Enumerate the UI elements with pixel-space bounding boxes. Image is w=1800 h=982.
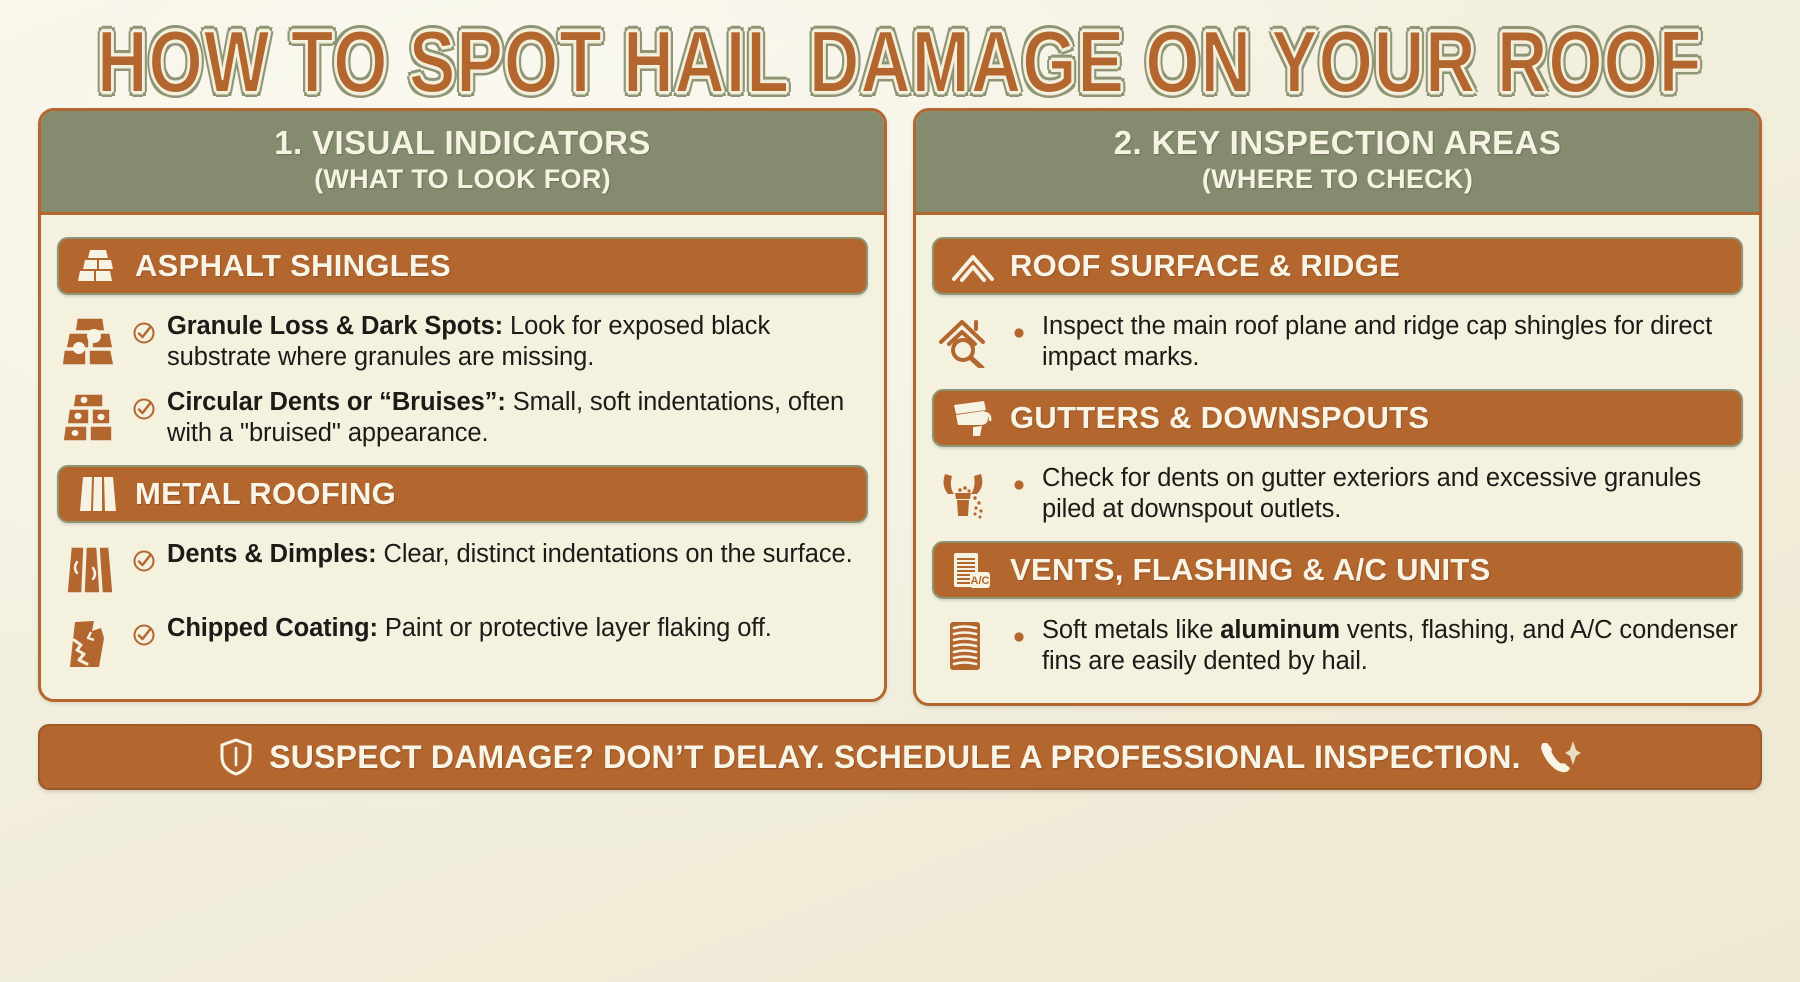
cta-banner[interactable]: SUSPECT DAMAGE? DON’T DELAY. SCHEDULE A … [38,724,1762,790]
section-label: ROOF SURFACE & RIDGE [1010,248,1400,284]
card-1-header: 1. VISUAL INDICATORS (WHAT TO LOOK FOR) [41,111,884,215]
bullet-text: Inspect the main roof plane and ridge ca… [1042,311,1741,373]
gutter-granules-icon [934,465,996,523]
check-circle-icon [131,319,157,347]
check-circle-icon [131,621,157,649]
bullet-rest: Clear, distinct indentations on the surf… [377,540,853,568]
dot-bullet-icon [1006,319,1032,347]
dot-bullet-icon [1006,471,1032,499]
card-2-body: ROOF SURFACE & RIDGE [916,215,1759,704]
shingle-grid-icon [75,246,121,286]
title-container: HOW TO SPOT HAIL DAMAGE ON YOUR ROOF [0,0,1800,108]
section-metal-roofing[interactable]: METAL ROOFING [57,465,868,523]
section-gutters-downspouts[interactable]: GUTTERS & DOWNSPOUTS [932,389,1743,447]
card-visual-indicators: 1. VISUAL INDICATORS (WHAT TO LOOK FOR) [38,108,887,702]
bullet-text: Soft metals like aluminum vents, flashin… [1042,615,1741,677]
vent-ac-icon: A/C [950,550,996,590]
section-label: METAL ROOFING [135,476,396,512]
bullet-text: Granule Loss & Dark Spots: Look for expo… [167,311,866,373]
bullet-lead: Circular Dents or “Bruises”: [167,388,506,416]
metal-panel-icon [75,474,121,514]
cta-text: SUSPECT DAMAGE? DON’T DELAY. SCHEDULE A … [269,739,1520,776]
section-roof-surface-ridge[interactable]: ROOF SURFACE & RIDGE [932,237,1743,295]
infographic-page: HOW TO SPOT HAIL DAMAGE ON YOUR ROOF 1. … [0,0,1800,982]
bullet-rest: Inspect the main roof plane and ridge ca… [1042,312,1712,371]
phone-icon [1537,737,1581,777]
metal-dent-icon [59,541,121,599]
shingle-granule-loss-icon [59,313,121,371]
bullet-rest: Paint or protective layer flaking off. [378,614,772,642]
section-vents-flashing-ac[interactable]: A/C VENTS, FLASHING & A/C UNITS [932,541,1743,599]
bullet-roof-plane: Inspect the main roof plane and ridge ca… [932,305,1743,381]
bullet-lead: Dents & Dimples: [167,540,377,568]
section-asphalt-shingles[interactable]: ASPHALT SHINGLES [57,237,868,295]
bullet-soft-metals: Soft metals like aluminum vents, flashin… [932,609,1743,685]
section-label: ASPHALT SHINGLES [135,248,451,284]
house-magnifier-icon [934,313,996,371]
section-label: VENTS, FLASHING & A/C UNITS [1010,552,1491,588]
check-circle-icon [131,395,157,423]
check-circle-icon [131,547,157,575]
ac-badge-label: A/C [971,575,990,587]
roof-peak-icon [950,246,996,286]
bullet-lead: Granule Loss & Dark Spots: [167,312,503,340]
bullet-granule-loss: Granule Loss & Dark Spots: Look for expo… [57,305,868,381]
card-key-inspection-areas: 2. KEY INSPECTION AREAS (WHERE TO CHECK) [913,108,1762,706]
section-label: GUTTERS & DOWNSPOUTS [1010,400,1429,436]
bullet-dents-dimples: Dents & Dimples: Clear, distinct indenta… [57,533,868,607]
bullet-chipped-coating: Chipped Coating: Paint or protective lay… [57,607,868,681]
card-1-title: 1. VISUAL INDICATORS [51,125,874,162]
bullet-text: Circular Dents or “Bruises”: Small, soft… [167,387,866,449]
bullet-gutter-dents: Check for dents on gutter exteriors and … [932,457,1743,533]
dot-bullet-icon [1006,623,1032,651]
shingle-dents-icon [59,389,121,447]
bullet-circular-dents: Circular Dents or “Bruises”: Small, soft… [57,381,868,457]
bullet-prefix: Soft metals like [1042,616,1220,644]
shield-icon [219,738,253,776]
cards-row: 1. VISUAL INDICATORS (WHAT TO LOOK FOR) [0,108,1800,706]
ac-fins-icon [934,617,996,675]
card-1-subtitle: (WHAT TO LOOK FOR) [51,164,874,196]
gutter-downspout-icon [950,398,996,438]
bullet-text: Chipped Coating: Paint or protective lay… [167,613,772,644]
bullet-text: Dents & Dimples: Clear, distinct indenta… [167,539,853,570]
card-2-header: 2. KEY INSPECTION AREAS (WHERE TO CHECK) [916,111,1759,215]
bullet-lead: Chipped Coating: [167,614,378,642]
page-title: HOW TO SPOT HAIL DAMAGE ON YOUR ROOF [97,18,1702,106]
chipped-paint-icon [59,615,121,673]
bullet-text: Check for dents on gutter exteriors and … [1042,463,1741,525]
card-2-subtitle: (WHERE TO CHECK) [926,164,1749,196]
bullet-bold-word: aluminum [1220,616,1340,644]
bullet-rest: Check for dents on gutter exteriors and … [1042,464,1701,523]
card-1-body: ASPHALT SHINGLES [41,215,884,699]
card-2-title: 2. KEY INSPECTION AREAS [926,125,1749,162]
